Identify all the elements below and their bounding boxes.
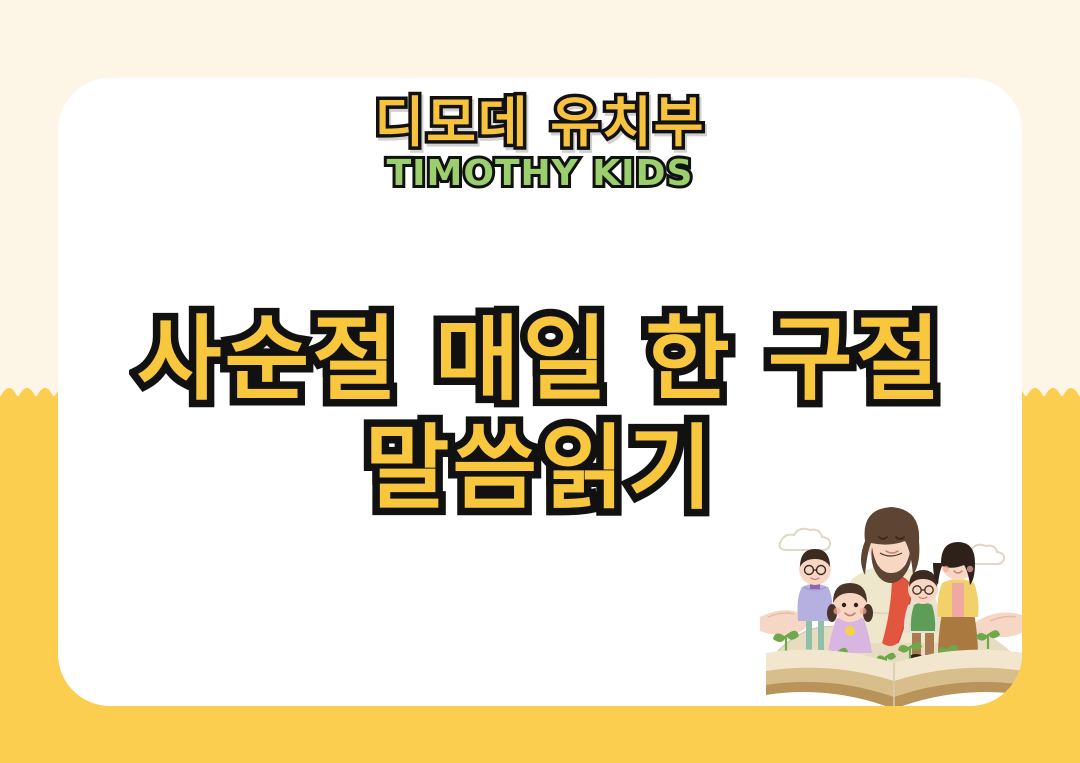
child-boy-green-vest bbox=[904, 570, 942, 662]
sprouts bbox=[773, 630, 1000, 669]
main-title: 사순절 매일 한 구절 말씀읽기 bbox=[58, 306, 1022, 523]
main-title-line-1: 사순절 매일 한 구절 bbox=[58, 306, 1022, 415]
hand-right bbox=[974, 612, 1022, 637]
main-title-line-2: 말씀읽기 bbox=[58, 415, 1022, 524]
jesus-with-children-illustration bbox=[760, 501, 1022, 706]
child-boy-glasses-left bbox=[798, 549, 833, 660]
poster-canvas: 디모데 유치부 TIMOTHY KIDS 사순절 매일 한 구절 말씀읽기 bbox=[0, 0, 1080, 763]
cloud-right bbox=[958, 545, 1004, 564]
child-girl-yellow-cardigan bbox=[933, 542, 979, 662]
brand-title-english: TIMOTHY KIDS bbox=[58, 156, 1022, 192]
cloud-left bbox=[780, 529, 830, 550]
open-book bbox=[766, 650, 1022, 706]
brand-header: 디모데 유치부 TIMOTHY KIDS bbox=[58, 96, 1022, 192]
child-girl-pink-dress bbox=[827, 583, 873, 671]
brand-title-korean: 디모데 유치부 bbox=[58, 96, 1022, 150]
hand-left bbox=[760, 610, 808, 635]
content-card: 디모데 유치부 TIMOTHY KIDS 사순절 매일 한 구절 말씀읽기 bbox=[58, 78, 1022, 706]
jesus-figure bbox=[838, 507, 942, 646]
